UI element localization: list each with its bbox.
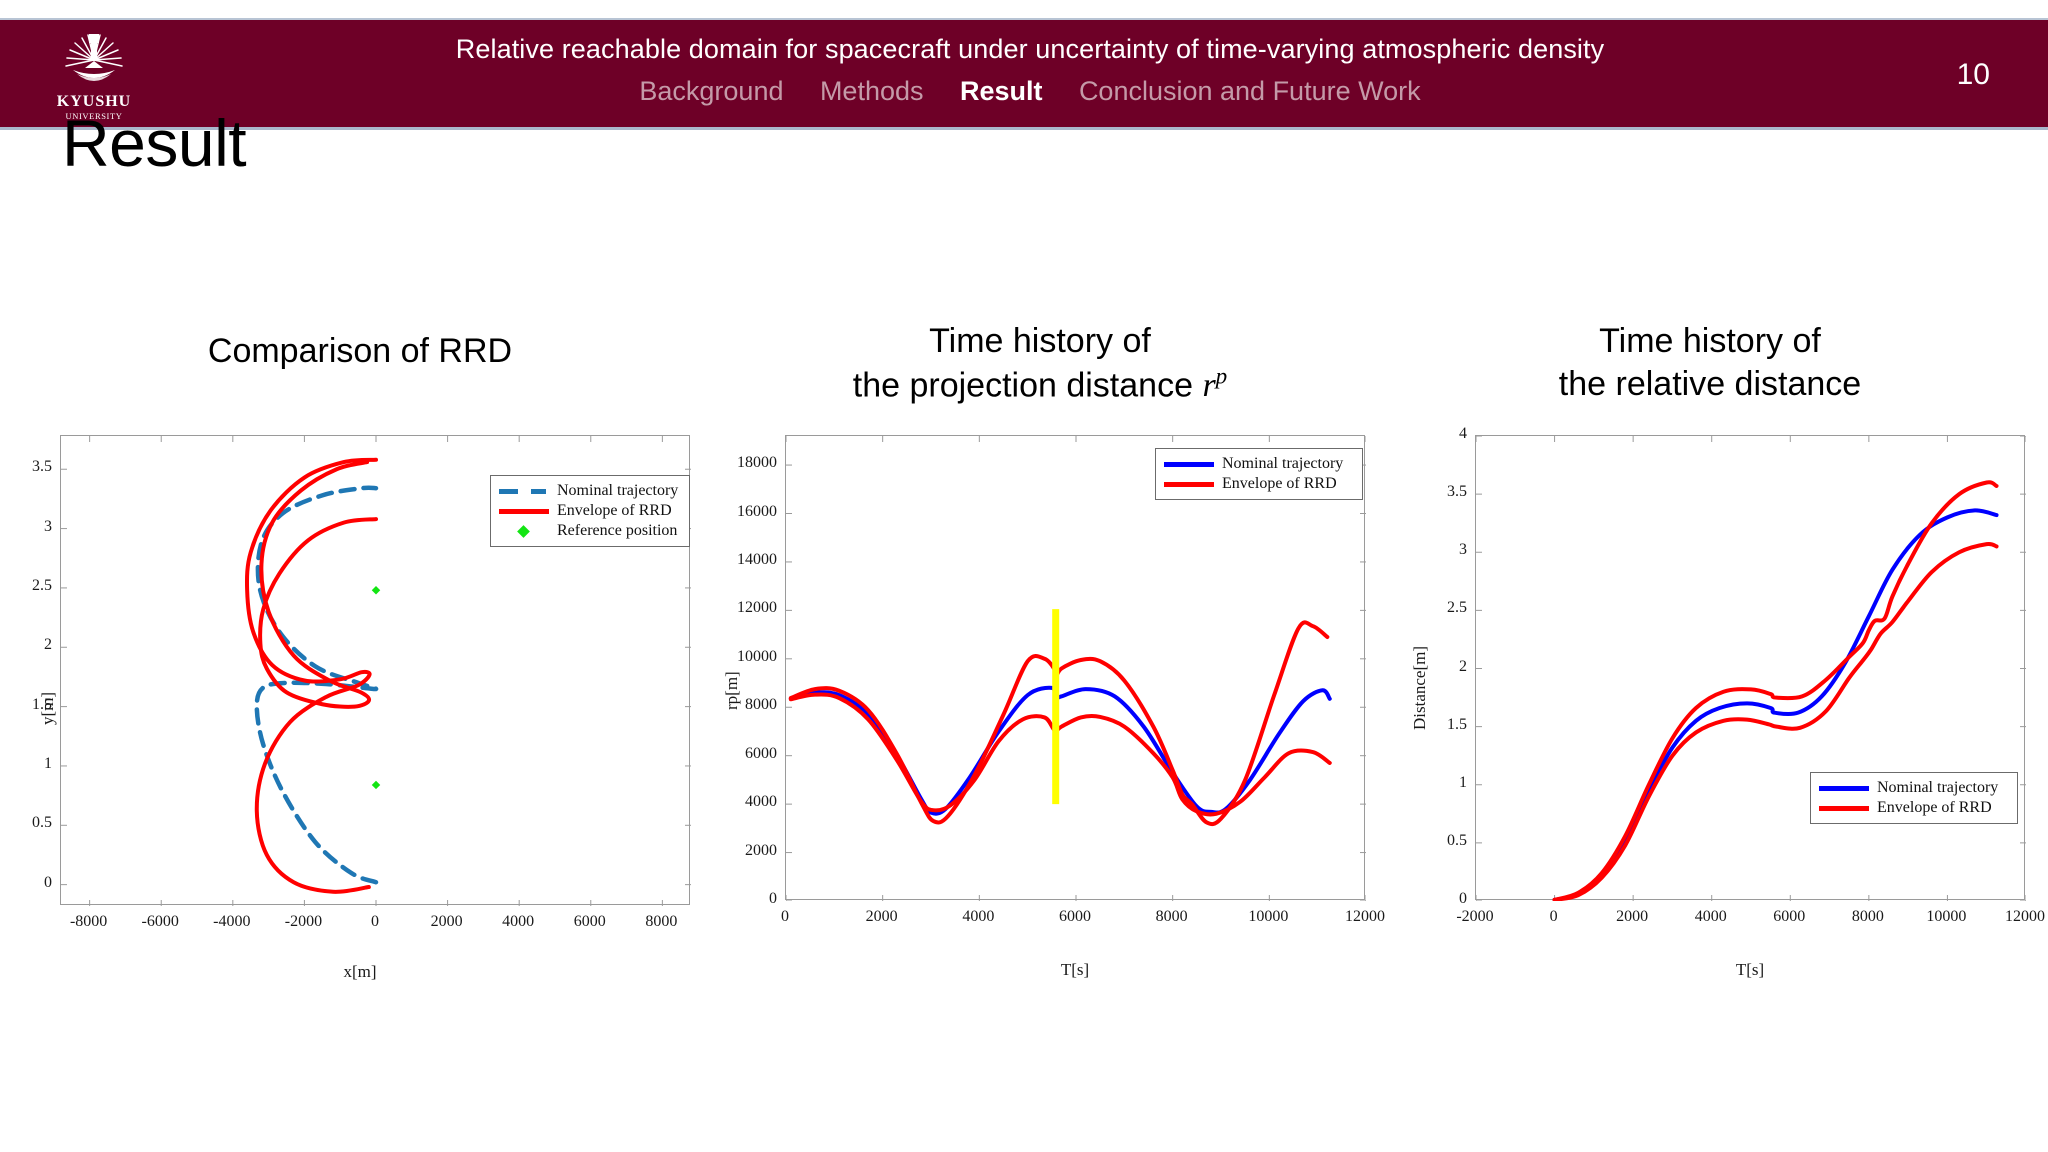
slide-title: Result <box>62 105 246 181</box>
x-tick-label: 10000 <box>1228 908 1308 926</box>
legend-key-solid-blue <box>1817 780 1871 796</box>
legend-key-green-diamond-icon <box>497 523 551 539</box>
page-number: 10 <box>1957 58 1990 92</box>
legend-row-envelope-of-rrd: Envelope of RRD <box>497 501 681 521</box>
y-tick-label: 10000 <box>709 648 777 666</box>
legend-key-dashed-blue <box>497 483 551 499</box>
legend-label-nominal-trajectory: Nominal trajectory <box>1222 455 1343 473</box>
legend-label-envelope-of-rrd: Envelope of RRD <box>1222 475 1337 493</box>
plot-area-projection-distance[interactable] <box>785 435 1365 900</box>
figure-2-title: Time history of the projection distance … <box>700 320 1380 407</box>
legend-key-solid-red <box>1162 476 1216 492</box>
x-tick-label: 2000 <box>842 908 922 926</box>
y-tick-label: 16000 <box>709 503 777 521</box>
y-tick-label: 0 <box>709 890 777 908</box>
y-tick-label: 8000 <box>709 696 777 714</box>
figure-2-title-line2: the projection distance rp <box>700 363 1380 408</box>
x-tick-label: 0 <box>335 913 415 931</box>
x-tick-label: 0 <box>1514 908 1594 926</box>
legend-label-envelope-of-rrd: Envelope of RRD <box>1877 799 1992 817</box>
y-tick-label: 14000 <box>709 551 777 569</box>
figure-3-title-line2: the relative distance <box>1380 363 2040 406</box>
figure-comparison-of-rrd: Comparison of RRD -8000-6000-4000-200002… <box>20 330 700 373</box>
legend-row-envelope-of-rrd: Envelope of RRD <box>1162 474 1354 494</box>
series-line <box>1555 482 1997 900</box>
legend-key-solid-red <box>497 503 551 519</box>
x-tick-label: 8000 <box>1132 908 1212 926</box>
y-tick-label: 2 <box>0 636 52 654</box>
slide-header-bar: KYUSHU UNIVERSITY Relative reachable dom… <box>0 18 2048 130</box>
figure-2-title-line2-text: the projection distance <box>853 366 1193 404</box>
x-tick-label: 2000 <box>407 913 487 931</box>
y-tick-label: 3 <box>0 518 52 536</box>
figure-2-title-symbol: rp <box>1202 367 1227 404</box>
y-tick-label: 0 <box>0 874 52 892</box>
y-tick-label: 12000 <box>709 599 777 617</box>
x-tick-label: 12000 <box>1325 908 1405 926</box>
figure-3-title-line1: Time history of <box>1380 320 2040 363</box>
figure-2-title-line1: Time history of <box>700 320 1380 363</box>
y-tick-label: 2000 <box>709 842 777 860</box>
x-tick-label: 4000 <box>938 908 1018 926</box>
legend-label-envelope-of-rrd: Envelope of RRD <box>557 502 672 520</box>
figure-time-history-relative-distance: Time history of the relative distance -2… <box>1380 320 2040 405</box>
legend-label-reference-position: Reference position <box>557 522 677 540</box>
kyushu-crest-icon <box>57 30 131 92</box>
figure-1-title-text: Comparison of RRD <box>208 332 512 370</box>
x-tick-label: -4000 <box>192 913 272 931</box>
x-tick-label: 4000 <box>1671 908 1751 926</box>
y-tick-label: 0 <box>1399 890 1467 908</box>
legend-key-solid-blue <box>1162 456 1216 472</box>
legend-label-nominal-trajectory: Nominal trajectory <box>1877 779 1998 797</box>
y-tick-label: 4 <box>1399 425 1467 443</box>
x-tick-label: 6000 <box>1035 908 1115 926</box>
x-tick-label: 8000 <box>621 913 701 931</box>
y-tick-label: 1 <box>1399 774 1467 792</box>
figure-1-title: Comparison of RRD <box>20 330 700 373</box>
reference-position-marker <box>372 586 380 594</box>
y-tick-label: 1 <box>0 755 52 773</box>
y-tick-label: 18000 <box>709 454 777 472</box>
figure-2-y-axis-label: rp[m] <box>722 671 742 710</box>
x-tick-label: 4000 <box>478 913 558 931</box>
y-tick-label: 3 <box>1399 541 1467 559</box>
y-tick-label: 0.5 <box>1399 832 1467 850</box>
y-tick-label: 3.5 <box>0 458 52 476</box>
section-nav: Background Methods Result Conclusion and… <box>320 76 1740 107</box>
figure-1-y-axis-label: y[m] <box>38 692 58 725</box>
nav-item-conclusion[interactable]: Conclusion and Future Work <box>1079 76 1421 107</box>
x-tick-label: 12000 <box>1985 908 2048 926</box>
plot-area-relative-distance[interactable] <box>1475 435 2025 900</box>
x-tick-label: -2000 <box>263 913 343 931</box>
series-line <box>247 460 376 892</box>
x-tick-label: 2000 <box>1592 908 1672 926</box>
figure-2-x-axis-label: T[s] <box>785 960 1365 980</box>
nav-item-result[interactable]: Result <box>960 76 1043 107</box>
y-tick-label: 3.5 <box>1399 483 1467 501</box>
figure-3-title: Time history of the relative distance <box>1380 320 2040 405</box>
legend-row-reference-position: Reference position <box>497 521 681 541</box>
x-tick-label: -8000 <box>49 913 129 931</box>
legend-row-envelope-of-rrd: Envelope of RRD <box>1817 798 2009 818</box>
x-tick-label: -2000 <box>1435 908 1515 926</box>
figure-time-history-projection-distance: Time history of the projection distance … <box>700 320 1380 407</box>
legend-row-nominal-trajectory: Nominal trajectory <box>1817 778 2009 798</box>
legend-row-nominal-trajectory: Nominal trajectory <box>497 481 681 501</box>
nav-item-methods[interactable]: Methods <box>820 76 924 107</box>
nav-item-background[interactable]: Background <box>639 76 783 107</box>
y-tick-label: 0.5 <box>0 814 52 832</box>
y-tick-label: 4000 <box>709 793 777 811</box>
legend-label-nominal-trajectory: Nominal trajectory <box>557 482 678 500</box>
x-tick-label: -6000 <box>120 913 200 931</box>
presentation-title: Relative reachable domain for spacecraft… <box>320 34 1740 65</box>
legend-relative-distance: Nominal trajectory Envelope of RRD <box>1810 772 2018 824</box>
y-tick-label: 6000 <box>709 745 777 763</box>
legend-comparison-of-rrd: Nominal trajectory Envelope of RRD Refer… <box>490 475 690 547</box>
figure-1-x-axis-label: x[m] <box>20 962 700 982</box>
x-tick-label: 8000 <box>1828 908 1908 926</box>
x-tick-label: 10000 <box>1906 908 1986 926</box>
y-tick-label: 2.5 <box>0 577 52 595</box>
x-tick-label: 6000 <box>550 913 630 931</box>
legend-projection-distance: Nominal trajectory Envelope of RRD <box>1155 448 1363 500</box>
figure-3-x-axis-label: T[s] <box>1475 960 2025 980</box>
legend-row-nominal-trajectory: Nominal trajectory <box>1162 454 1354 474</box>
x-tick-label: 6000 <box>1749 908 1829 926</box>
legend-key-solid-red <box>1817 800 1871 816</box>
figure-3-y-axis-label: Distance[m] <box>1410 646 1430 730</box>
reference-position-marker <box>372 781 380 789</box>
x-tick-label: 0 <box>745 908 825 926</box>
y-tick-label: 2.5 <box>1399 599 1467 617</box>
